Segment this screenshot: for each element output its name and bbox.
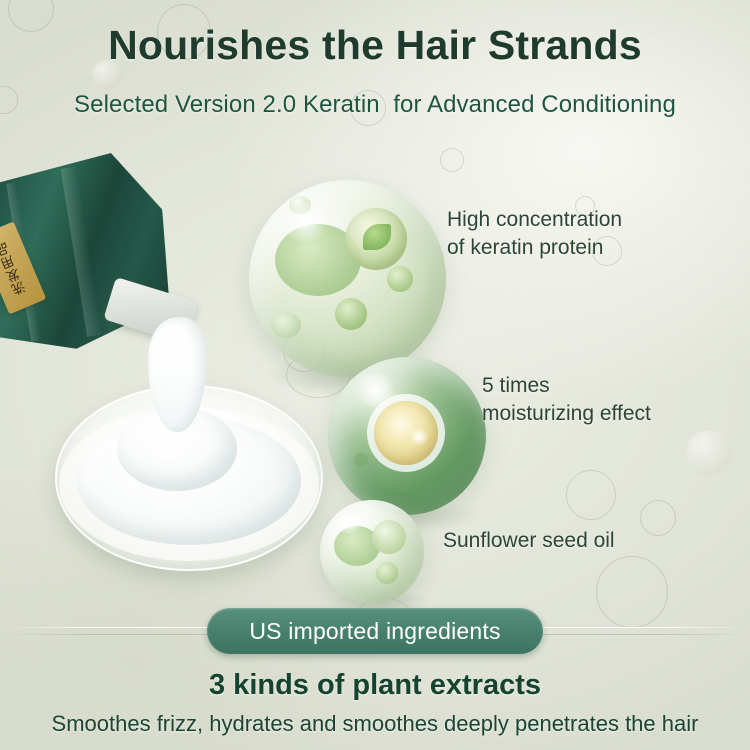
feature-line-2: of keratin protein — [447, 234, 622, 262]
feature-line-1: High concentration — [447, 206, 622, 234]
feature-line-1: 5 times — [482, 372, 651, 400]
bubble-ring-decoration — [440, 148, 464, 172]
status-badge: US imported ingredients — [207, 608, 543, 654]
sphere-highlight — [334, 512, 364, 534]
feature-callout-moisture: 5 times moisturizing effect — [482, 372, 651, 427]
product-marketing-banner: Nourishes the Hair Strands Selected Vers… — [0, 0, 750, 750]
sphere-inclusion — [387, 266, 413, 292]
sphere-inclusion — [335, 298, 367, 330]
core-highlight — [410, 429, 428, 445]
footer-description: Smoothes frizz, hydrates and smoothes de… — [0, 711, 750, 737]
bubble-blob-decoration — [686, 430, 732, 476]
badge-label: US imported ingredients — [249, 618, 500, 645]
bubble-ring-decoration — [640, 500, 676, 536]
product-pouch: 洗发用品 — [0, 143, 213, 404]
page-subtitle: Selected Version 2.0 Keratin for Advance… — [0, 91, 750, 119]
feature-callout-keratin: High concentration of keratin protein — [447, 206, 622, 261]
sphere-inclusion — [271, 312, 301, 338]
sphere-core — [374, 401, 438, 465]
sphere-highlight — [350, 373, 400, 407]
sphere-inclusion — [354, 453, 368, 467]
sphere-inclusion — [376, 562, 398, 584]
bubble-ring-decoration — [566, 470, 616, 520]
feature-line-2: moisturizing effect — [482, 400, 651, 428]
gel-sphere-moisture — [328, 357, 486, 515]
sphere-inclusion — [372, 520, 406, 554]
page-title: Nourishes the Hair Strands — [0, 22, 750, 69]
gel-sphere-sunflower — [320, 500, 424, 604]
feature-line-1: Sunflower seed oil — [443, 527, 615, 555]
feature-callout-sunflower: Sunflower seed oil — [443, 527, 615, 555]
sphere-highlight — [279, 202, 331, 242]
sphere-inclusion — [398, 481, 410, 491]
bubble-ring-decoration — [596, 556, 668, 628]
gel-sphere-keratin — [249, 180, 446, 377]
footer-tagline: 3 kinds of plant extracts — [0, 669, 750, 702]
